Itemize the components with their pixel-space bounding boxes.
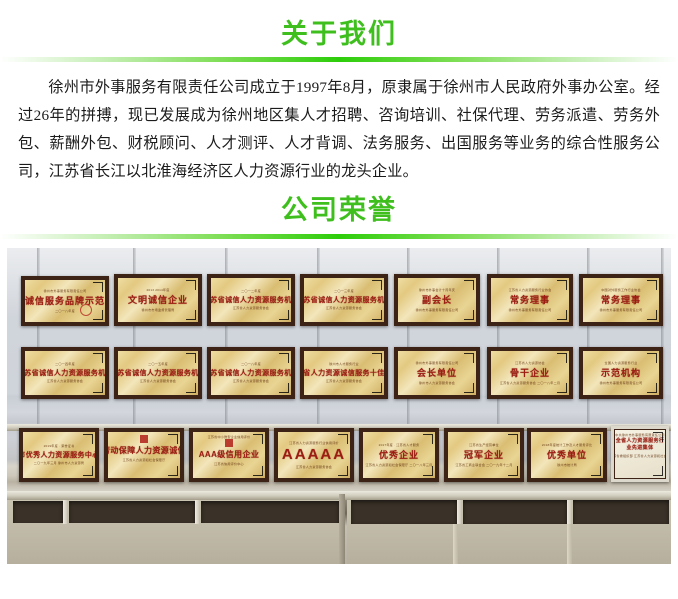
plaque-title-text: 常务理事 xyxy=(510,293,550,306)
plaque-top-text: 中国对外服务工作行业协会 xyxy=(601,288,641,292)
section-company-honors: 公司荣誉 徐州市外事服务有限责任公司 优质诚信服务品牌示范单位 二〇一八年度 xyxy=(0,186,678,563)
award-plaque-face: 2017年度 · 江苏省人才服务 优秀企业 江苏省人力资源和社会保障厅 二〇一八… xyxy=(363,432,435,478)
plaque-top-text: 二〇一三年度 xyxy=(334,289,354,293)
plaque-top-text: 2019年度 · 荣誉证书 xyxy=(44,444,75,448)
award-plaque-face: 江苏省人力资源服务行业协会 常务理事 徐州市外事服务有限责任公司 xyxy=(491,278,569,322)
plaque-title-text: 江苏省诚信人力资源服务机构 xyxy=(25,368,105,378)
award-plaque: 二〇一八年度 江苏省诚信人力资源服务机构 江苏省人力资源服务协会 xyxy=(207,347,295,399)
red-seal-icon xyxy=(80,304,92,316)
plaque-title-text: 徐州市优秀人力资源服务中心企业 xyxy=(23,450,95,460)
award-plaque-face: 江苏省劳动保障人力资源诚信用企业 江苏省人力资源和社会保障厅 xyxy=(108,432,180,478)
plaque-bottom-text: 江苏省人力资源服务协会 xyxy=(326,306,362,310)
plaque-top-text: 徐州市外事服务有限责任公司 xyxy=(44,289,87,293)
award-plaque-face: 二〇一四年度 江苏省诚信人力资源服务机构 江苏省人力资源服务协会 xyxy=(25,351,105,395)
cabinet-divider xyxy=(457,500,461,524)
award-certificate: 2019年度 · 荣誉证书 徐州市优秀人力资源服务中心企业 二〇一九年三月 徐州… xyxy=(19,428,99,482)
cabinet-divider xyxy=(195,500,199,524)
award-plaque-face: 徐州市外事会计十周年庆 副会长 徐州市外事服务有限责任公司 xyxy=(398,278,476,322)
emblem-icon xyxy=(140,435,148,443)
award-plaque: 徐州市外事服务有限责任公司 会长单位 徐州市人力资源服务协会 xyxy=(394,347,480,399)
award-plaque: 江苏省人力资源协会 骨干企业 江苏省人力资源服务协会 二〇一八年二月 xyxy=(487,347,573,399)
award-plaque-face: 江苏省人力资源服务行业信用评价 AAAAA 江苏省人力资源服务协会 xyxy=(278,432,350,478)
cabinet-cubby xyxy=(351,500,457,524)
plaque-bottom-text: 江苏省工商业联合会 二〇一九年十二月 xyxy=(455,463,512,467)
cabinet-cubby xyxy=(13,501,63,523)
award-certificate: 江苏省人力资源服务行业信用评价 AAAAA 江苏省人力资源服务协会 xyxy=(274,428,354,482)
plaque-top-text: 徐州市外事服务有限责任公司 xyxy=(416,361,459,365)
plaque-title-text: 全省人力资源服务行业先进集体 xyxy=(615,438,665,452)
plaque-top-text: 江苏省人力资源协会 xyxy=(515,361,545,365)
plaque-bottom-text: 徐州市外事服务有限责任公司 xyxy=(600,308,643,312)
award-certificate: 江苏省劳动保障人力资源诚信用企业 江苏省人力资源和社会保障厅 xyxy=(104,428,184,482)
award-plaque: 徐州市人才服务行业 江苏省人力资源诚信服务十佳机构 江苏省人力资源服务协会 xyxy=(300,347,388,399)
award-plaque-face: 中国对外服务工作行业协会 常务理事 徐州市外事服务有限责任公司 xyxy=(583,278,659,322)
award-plaque-face: 2018年度统计工作及人才服务评比 优秀单位 徐州市统计局 xyxy=(531,432,603,478)
plaque-bottom-text: 徐州市市场监督管理局 xyxy=(142,308,175,312)
award-plaque-face: 中共徐州市外事服务有限责任公司 全省人力资源服务行业先进集体 中共江苏省委组织部… xyxy=(615,430,665,478)
about-us-paragraph: 徐州市外事服务有限责任公司成立于1997年8月，原隶属于徐州市人民政府外事办公室… xyxy=(0,62,678,186)
award-plaque-face: 二〇一五年度 江苏省诚信人力资源服务机构 江苏省人力资源服务协会 xyxy=(118,351,198,395)
award-plaque-face: 徐州市外事服务有限责任公司 会长单位 徐州市人力资源服务协会 xyxy=(398,351,476,395)
plaque-bottom-text: 江苏省人力资源服务协会 xyxy=(233,306,269,310)
award-plaque: 二〇一三年度 江苏省诚信人力资源服务机构 江苏省人力资源服务协会 xyxy=(300,274,388,326)
plaque-bottom-text: 徐州市外事服务有限责任公司 xyxy=(600,381,643,385)
plaque-bottom-text: 江苏省人力资源服务协会 xyxy=(296,465,332,469)
plaque-top-text: 二〇一四年度 xyxy=(55,362,75,366)
award-plaque: 徐州市外事服务有限责任公司 优质诚信服务品牌示范单位 二〇一八年度 xyxy=(21,276,109,326)
plaque-title-text: 江苏省诚信人力资源服务机构 xyxy=(118,368,198,378)
honor-wall-photo: 徐州市外事服务有限责任公司 优质诚信服务品牌示范单位 二〇一八年度 2013 2… xyxy=(7,248,671,564)
award-plaque: 江苏省生产经营单位 冠军企业 江苏省工商业联合会 二〇一九年十二月 xyxy=(444,428,524,482)
plaque-bottom-text: 江苏省人力资源服务协会 xyxy=(233,379,269,383)
award-plaque: 中国对外服务工作行业协会 常务理事 徐州市外事服务有限责任公司 xyxy=(579,274,663,326)
plaque-bottom-text: 徐州市统计局 xyxy=(557,463,577,467)
page-title-company-honors: 公司荣誉 xyxy=(0,186,678,224)
cabinet-divider xyxy=(339,494,345,564)
plaque-title-text: 江苏省诚信人力资源服务机构 xyxy=(304,295,384,305)
award-plaque-face: 徐州市人才服务行业 江苏省人力资源诚信服务十佳机构 江苏省人力资源服务协会 xyxy=(304,351,384,395)
plaque-title-text: 常务理事 xyxy=(601,293,641,306)
plaque-bottom-text: 徐州市外事服务有限责任公司 xyxy=(509,308,552,312)
plaque-top-text: 二〇一五年度 xyxy=(148,362,168,366)
award-plaque-face: 江苏省人力资源协会 骨干企业 江苏省人力资源服务协会 二〇一八年二月 xyxy=(491,351,569,395)
award-plaque: 二〇一五年度 江苏省诚信人力资源服务机构 江苏省人力资源服务协会 xyxy=(114,347,202,399)
page-title-about-us: 关于我们 xyxy=(0,0,678,48)
award-plaque: 二〇一四年度 江苏省诚信人力资源服务机构 江苏省人力资源服务协会 xyxy=(21,347,109,399)
emblem-icon xyxy=(225,439,233,447)
cabinet-cubby xyxy=(573,500,669,524)
award-plaque-face: 江苏省生产经营单位 冠军企业 江苏省工商业联合会 二〇一九年十二月 xyxy=(448,432,520,478)
award-plaque-face: 全国人力资源服务行业 示范机构 徐州市外事服务有限责任公司 xyxy=(583,351,659,395)
award-plaque-face: 二〇一三年度 江苏省诚信人力资源服务机构 江苏省人力资源服务协会 xyxy=(304,278,384,322)
plaque-title-text: 优秀企业 xyxy=(379,448,419,461)
plaque-bottom-text: 江苏省人力资源和社会保障厅 xyxy=(123,458,166,462)
plaque-title-text: 示范机构 xyxy=(601,366,641,379)
award-certificate: 江苏省中小微型企业信用评价 AAA级信用企业 江苏省信用评价中心 xyxy=(189,428,269,482)
plaque-bottom-text: 江苏省人力资源服务协会 二〇一八年二月 xyxy=(500,381,560,385)
plaque-top-text: 徐州市外事会计十周年庆 xyxy=(419,288,455,292)
award-plaque: 2017年度 · 江苏省人才服务 优秀企业 江苏省人力资源和社会保障厅 二〇一八… xyxy=(359,428,439,482)
award-plaque-face: 徐州市外事服务有限责任公司 优质诚信服务品牌示范单位 二〇一八年度 xyxy=(25,280,105,322)
cabinet-divider xyxy=(453,524,458,564)
award-plaque-face: 江苏省中小微型企业信用评价 AAA级信用企业 江苏省信用评价中心 xyxy=(193,432,265,478)
award-plaque-face: 二〇一二年度 江苏省诚信人力资源服务机构 江苏省人力资源服务协会 xyxy=(211,278,291,322)
plaque-top-text: 江苏省人力资源服务行业信用评价 xyxy=(289,441,338,445)
plaque-top-text: 二〇一二年度 xyxy=(241,289,261,293)
plaque-title-text: 江苏省诚信人力资源服务机构 xyxy=(211,368,291,378)
award-certificate: 中共徐州市外事服务有限责任公司 全省人力资源服务行业先进集体 中共江苏省委组织部… xyxy=(611,426,669,482)
plaque-top-text: 二〇一八年度 xyxy=(241,362,261,366)
plaque-title-text: 优质诚信服务品牌示范单位 xyxy=(25,294,105,307)
plaque-bottom-text: 二〇一八年度 xyxy=(55,309,75,313)
cabinet-cubby xyxy=(463,500,567,524)
award-plaque: 2018年度统计工作及人才服务评比 优秀单位 徐州市统计局 xyxy=(527,428,607,482)
plaque-title-text: 江苏省诚信人力资源服务机构 xyxy=(211,295,291,305)
plaque-title-text: 文明诚信企业 xyxy=(128,293,188,306)
page-root: 关于我们 徐州市外事服务有限责任公司成立于1997年8月，原隶属于徐州市人民政府… xyxy=(0,0,678,599)
plaque-top-text: 江苏省生产经营单位 xyxy=(469,443,499,447)
plaque-title-text: 江苏省劳动保障人力资源诚信用企业 xyxy=(108,445,180,456)
plaque-top-text: 全国人力资源服务行业 xyxy=(605,361,638,365)
award-plaque: 全国人力资源服务行业 示范机构 徐州市外事服务有限责任公司 xyxy=(579,347,663,399)
plaque-top-text: 江苏省人力资源服务行业协会 xyxy=(509,288,552,292)
award-plaque: 江苏省人力资源服务行业协会 常务理事 徐州市外事服务有限责任公司 xyxy=(487,274,573,326)
cabinet-cubby xyxy=(201,501,339,523)
award-plaque-face: 2013 2014年度 文明诚信企业 徐州市市场监督管理局 xyxy=(118,278,198,322)
cabinet-divider xyxy=(567,500,571,524)
plaque-bottom-text: 徐州市人力资源服务协会 xyxy=(419,381,455,385)
plaque-bottom-text: 江苏省人力资源服务协会 xyxy=(47,379,83,383)
plaque-bottom-text: 二〇一九年三月 徐州市人力资源局 xyxy=(34,461,84,465)
plaque-bottom-text: 江苏省人力资源服务协会 xyxy=(326,379,362,383)
cabinet-cubby xyxy=(69,501,195,523)
plaque-bottom-text: 中共江苏省委组织部 江苏省人力资源和社会保障厅 xyxy=(615,454,665,458)
award-plaque-face: 2019年度 · 荣誉证书 徐州市优秀人力资源服务中心企业 二〇一九年三月 徐州… xyxy=(23,432,95,478)
plaque-top-text: 2013 2014年度 xyxy=(146,288,169,292)
plaque-top-text: 徐州市人才服务行业 xyxy=(329,362,359,366)
plaque-title-text: 江苏省人力资源诚信服务十佳机构 xyxy=(304,368,384,378)
plaque-title-text: AAA级信用企业 xyxy=(199,449,260,460)
award-plaque: 二〇一二年度 江苏省诚信人力资源服务机构 江苏省人力资源服务协会 xyxy=(207,274,295,326)
plaque-title-text: 骨干企业 xyxy=(510,366,550,379)
cabinet-divider xyxy=(63,500,67,524)
divider-company-honors xyxy=(0,234,678,239)
award-plaque: 徐州市外事会计十周年庆 副会长 徐州市外事服务有限责任公司 xyxy=(394,274,480,326)
section-about-us: 关于我们 徐州市外事服务有限责任公司成立于1997年8月，原隶属于徐州市人民政府… xyxy=(0,0,678,186)
plaque-title-text: AAAAA xyxy=(282,446,346,463)
plaque-title-text: 优秀单位 xyxy=(547,448,587,461)
plaque-bottom-text: 江苏省人力资源服务协会 xyxy=(140,379,176,383)
plaque-title-text: 会长单位 xyxy=(417,366,457,379)
cabinet-divider xyxy=(567,524,572,564)
award-plaque-face: 二〇一八年度 江苏省诚信人力资源服务机构 江苏省人力资源服务协会 xyxy=(211,351,291,395)
plaque-top-text: 中共徐州市外事服务有限责任公司 xyxy=(615,433,664,437)
plaque-title-text: 副会长 xyxy=(422,293,452,306)
plaque-bottom-text: 江苏省人力资源和社会保障厅 二〇一八年三月 xyxy=(366,463,433,467)
plaque-top-text: 2018年度统计工作及人才服务评比 xyxy=(542,443,593,447)
award-plaque: 2013 2014年度 文明诚信企业 徐州市市场监督管理局 xyxy=(114,274,202,326)
plaque-bottom-text: 徐州市外事服务有限责任公司 xyxy=(416,308,459,312)
plaque-top-text: 2017年度 · 江苏省人才服务 xyxy=(379,443,420,447)
plaque-bottom-text: 江苏省信用评价中心 xyxy=(214,462,244,466)
plaque-title-text: 冠军企业 xyxy=(464,448,504,461)
